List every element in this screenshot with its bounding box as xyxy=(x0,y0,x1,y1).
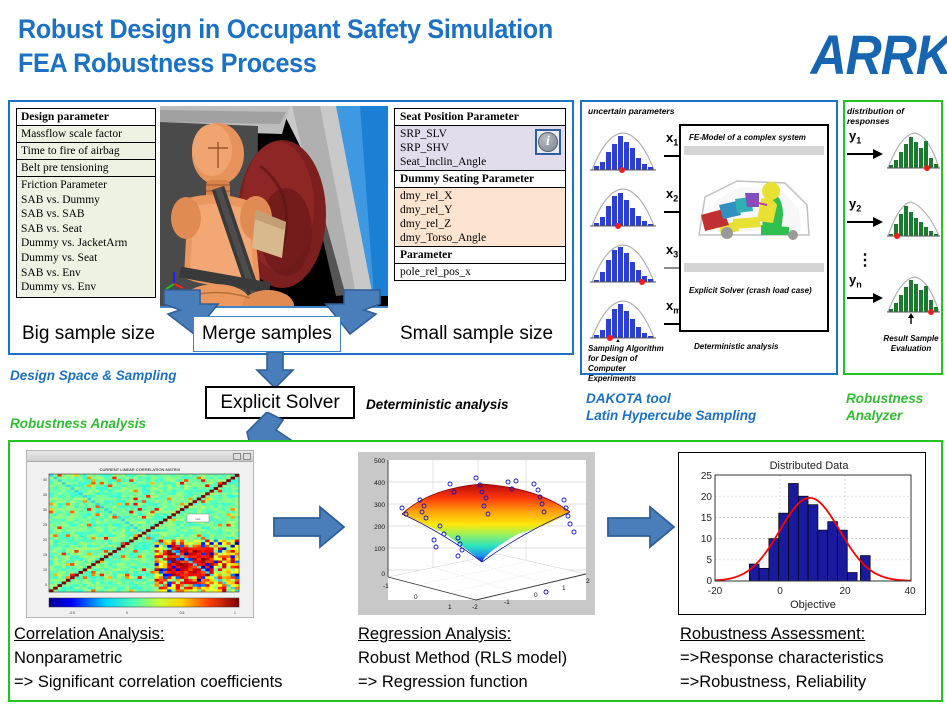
heatmap-tooltip: corr xyxy=(195,517,200,521)
list-item: SAB vs. SAB xyxy=(21,207,151,222)
big-sample-size-label: Big sample size xyxy=(22,323,155,345)
seat-position-parameter-table: Seat Position Parameter i SRP_SLV SRP_SH… xyxy=(394,108,566,281)
svg-text:20: 20 xyxy=(43,538,47,542)
input-variable-label: x2 xyxy=(666,186,678,204)
fe-car-model-image xyxy=(684,155,824,263)
robustness-assessment-caption: Robustness Assessment: =>Response charac… xyxy=(680,622,884,694)
friction-parameter-group: Friction Parameter SAB vs. Dummy SAB vs.… xyxy=(17,177,155,297)
minimize-button[interactable] xyxy=(233,453,241,460)
info-icon-glyph: i xyxy=(538,132,558,152)
y-tick: 200 xyxy=(374,524,385,531)
y-tick: 5 xyxy=(706,555,712,566)
divider xyxy=(684,263,824,272)
input-histogram xyxy=(588,240,658,291)
dakota-label-line-2: Latin Hypercube Sampling xyxy=(586,407,756,424)
robustness-analyzer-label: Robustness Analyzer xyxy=(846,390,923,424)
colorbar-tick: 0.5 xyxy=(180,611,185,615)
output-variable-label: yn xyxy=(849,272,862,290)
table-row: Belt pre tensioning xyxy=(17,160,155,177)
y-tick: 100 xyxy=(374,546,385,553)
input-variable-label: x1 xyxy=(666,130,678,148)
page-title: Robust Design in Occupant Safety Simulat… xyxy=(18,12,593,80)
fe-model-label: FE-Model of a complex system xyxy=(684,129,824,146)
y-tick: 400 xyxy=(374,480,385,487)
svg-text:5: 5 xyxy=(45,583,47,587)
fe-model-box: FE-Model of a complex system xyxy=(679,124,829,332)
seat-table-header: Seat Position Parameter xyxy=(395,109,565,126)
svg-text:40: 40 xyxy=(43,478,47,482)
response-histogram xyxy=(885,196,941,245)
small-sample-size-label: Small sample size xyxy=(400,323,553,345)
input-histogram xyxy=(588,128,658,179)
colorbar-tick: -0.5 xyxy=(69,611,75,615)
x-tick: 0 xyxy=(777,586,783,597)
y-tick: 300 xyxy=(374,502,385,509)
explicit-solver-label: Explicit Solver xyxy=(220,392,339,414)
distributed-data-histogram: Distributed Data 25 20 15 10 5 0 -20 0 xyxy=(679,453,924,613)
list-item: Dummy vs. Env xyxy=(21,280,151,295)
list-item: SAB vs. Env xyxy=(21,266,151,281)
input-histogram xyxy=(588,296,658,347)
caption-heading: Regression Analysis: xyxy=(358,622,567,646)
dakota-label-line-1: DAKOTA tool xyxy=(586,390,756,407)
dakota-diagram: uncertain parameters x1 xyxy=(586,106,832,368)
caption-line: Robust Method (RLS model) xyxy=(358,646,567,670)
design-space-section-label: Design Space & Sampling xyxy=(10,368,177,383)
list-item: dmy_rel_Z xyxy=(400,217,560,231)
explicit-solver-crash-label: Explicit Solver (crash load case) xyxy=(684,272,824,299)
caption-heading: Correlation Analysis: xyxy=(14,622,282,646)
x-tick: -1 xyxy=(504,599,510,606)
arrow-correlation-to-regression xyxy=(272,505,346,549)
svg-text:15: 15 xyxy=(43,553,47,557)
x-tick: -20 xyxy=(708,586,723,597)
input-histogram xyxy=(588,184,658,235)
output-variable-label: y2 xyxy=(849,196,861,214)
deterministic-analysis-caption: Deterministic analysis xyxy=(694,342,778,352)
list-item: SAB vs. Dummy xyxy=(21,193,151,208)
list-item: pole_rel_pos_x xyxy=(395,264,565,280)
table-row: Massflow scale factor xyxy=(17,126,155,143)
colorbar-tick: 1 xyxy=(234,611,236,615)
robustness-analysis-section-label: Robustness Analysis xyxy=(10,416,146,431)
x-tick: 1 xyxy=(448,604,452,611)
correlation-analysis-caption: Correlation Analysis: Nonparametric => S… xyxy=(14,622,282,694)
window-titlebar xyxy=(27,451,253,462)
dummy-items-group: dmy_rel_X dmy_rel_Y dmy_rel_Z dmy_Torso_… xyxy=(395,188,565,247)
dummy-seating-header: Dummy Seating Parameter xyxy=(395,171,565,188)
arrk-logo: ARRK xyxy=(811,23,947,88)
list-item: dmy_rel_X xyxy=(400,189,560,203)
vertical-ellipsis: ⋮ xyxy=(857,250,873,270)
caption-line: => Regression function xyxy=(358,670,567,694)
analyzer-label-line-1: Robustness xyxy=(846,390,923,407)
x-tick: 1 xyxy=(562,585,566,592)
fe-model-inner: FE-Model of a complex system xyxy=(684,129,824,327)
x-tick: 0 xyxy=(534,592,538,599)
arrow-regression-to-robustness xyxy=(606,505,676,549)
y-tick: 20 xyxy=(701,492,713,503)
svg-text:10: 10 xyxy=(43,568,47,572)
regression-3d-plot: 500 400 300 200 100 0 -1 0 1 -2 -1 0 1 2 xyxy=(358,452,595,615)
caption-heading: Robustness Assessment: xyxy=(680,622,884,646)
merge-samples-label: Merge samples xyxy=(202,323,332,345)
caption-line: =>Response characteristics xyxy=(680,646,884,670)
x-tick: 20 xyxy=(839,586,851,597)
sampling-algorithm-caption: Sampling Algorithm for Design of Compute… xyxy=(588,344,668,384)
output-arrow xyxy=(847,216,883,228)
title-line-2: FEA Robustness Process xyxy=(18,46,553,80)
x-tick: 40 xyxy=(904,586,916,597)
y-tick: 25 xyxy=(701,471,713,482)
table-row: Time to fire of airbag xyxy=(17,143,155,160)
design-parameter-table: Design parameter Massflow scale factor T… xyxy=(16,108,156,298)
design-table-header: Design parameter xyxy=(17,109,155,126)
list-item: Dummy vs. JacketArm xyxy=(21,236,151,251)
y-tick: 15 xyxy=(701,513,713,524)
close-button[interactable] xyxy=(243,453,251,460)
dakota-tool-label: DAKOTA tool Latin Hypercube Sampling xyxy=(586,390,756,424)
caption-line: Nonparametric xyxy=(14,646,282,670)
list-item: SAB vs. Seat xyxy=(21,222,151,237)
y-tick: 0 xyxy=(381,571,385,578)
seat-items-group: i SRP_SLV SRP_SHV Seat_Inclin_Angle xyxy=(395,126,565,171)
regression-surface-chart: 500 400 300 200 100 0 -1 0 1 -2 -1 0 1 2 xyxy=(358,452,595,615)
x-tick: 2 xyxy=(586,578,590,585)
x-tick: 0 xyxy=(414,594,418,601)
caption-line: =>Robustness, Reliability xyxy=(680,670,884,694)
chart-title: Distributed Data xyxy=(770,460,850,472)
list-item: Seat_Inclin_Angle xyxy=(400,155,560,169)
list-item: Friction Parameter xyxy=(21,178,151,193)
distribution-of-responses-title: distribution of responses xyxy=(847,106,941,126)
colorbar-tick: 0 xyxy=(126,611,128,615)
list-item: Dummy vs. Seat xyxy=(21,251,151,266)
response-distribution-diagram: distribution of responses y1 xyxy=(847,106,941,368)
y-tick: 10 xyxy=(701,534,713,545)
result-sample-evaluation-caption: Result Sample Evaluation xyxy=(881,334,941,354)
title-line-1: Robust Design in Occupant Safety Simulat… xyxy=(18,12,553,46)
response-histogram xyxy=(885,128,941,177)
merge-samples-box: Merge samples xyxy=(193,316,341,352)
svg-text:30: 30 xyxy=(43,508,47,512)
x-axis-label: Objective xyxy=(790,599,836,611)
deterministic-analysis-label: Deterministic analysis xyxy=(366,397,509,412)
response-histogram xyxy=(885,272,941,329)
output-arrow xyxy=(847,292,883,304)
analyzer-label-line-2: Analyzer xyxy=(846,407,923,424)
caption-line: => Significant correlation coefficients xyxy=(14,670,282,694)
divider xyxy=(684,146,824,155)
slide-root: Robust Design in Occupant Safety Simulat… xyxy=(0,0,947,710)
distributed-data-chart: Distributed Data 25 20 15 10 5 0 -20 0 xyxy=(678,452,926,615)
list-item: dmy_Torso_Angle xyxy=(400,231,560,245)
input-variable-label: x3 xyxy=(666,242,678,260)
parameter-header: Parameter xyxy=(395,247,565,264)
info-icon[interactable]: i xyxy=(535,129,561,155)
x-tick: -1 xyxy=(383,583,389,590)
x-tick: -2 xyxy=(472,604,478,611)
down-arrow-to-solver xyxy=(255,352,295,390)
uncertain-parameters-title: uncertain parameters xyxy=(588,106,674,116)
heatmap-title: CURRENT LINEAR CORRELATION MATRIX xyxy=(100,467,181,472)
regression-analysis-caption: Regression Analysis: Robust Method (RLS … xyxy=(358,622,567,694)
correlation-matrix-chart: CURRENT LINEAR CORRELATION MATRIX corr 4… xyxy=(26,450,254,618)
output-arrow xyxy=(847,148,883,160)
list-item: dmy_rel_Y xyxy=(400,203,560,217)
svg-text:25: 25 xyxy=(43,523,47,527)
output-variable-label: y1 xyxy=(849,128,861,146)
y-tick: 500 xyxy=(374,458,385,465)
correlation-heatmap: CURRENT LINEAR CORRELATION MATRIX corr 4… xyxy=(27,462,253,617)
svg-text:35: 35 xyxy=(43,493,47,497)
